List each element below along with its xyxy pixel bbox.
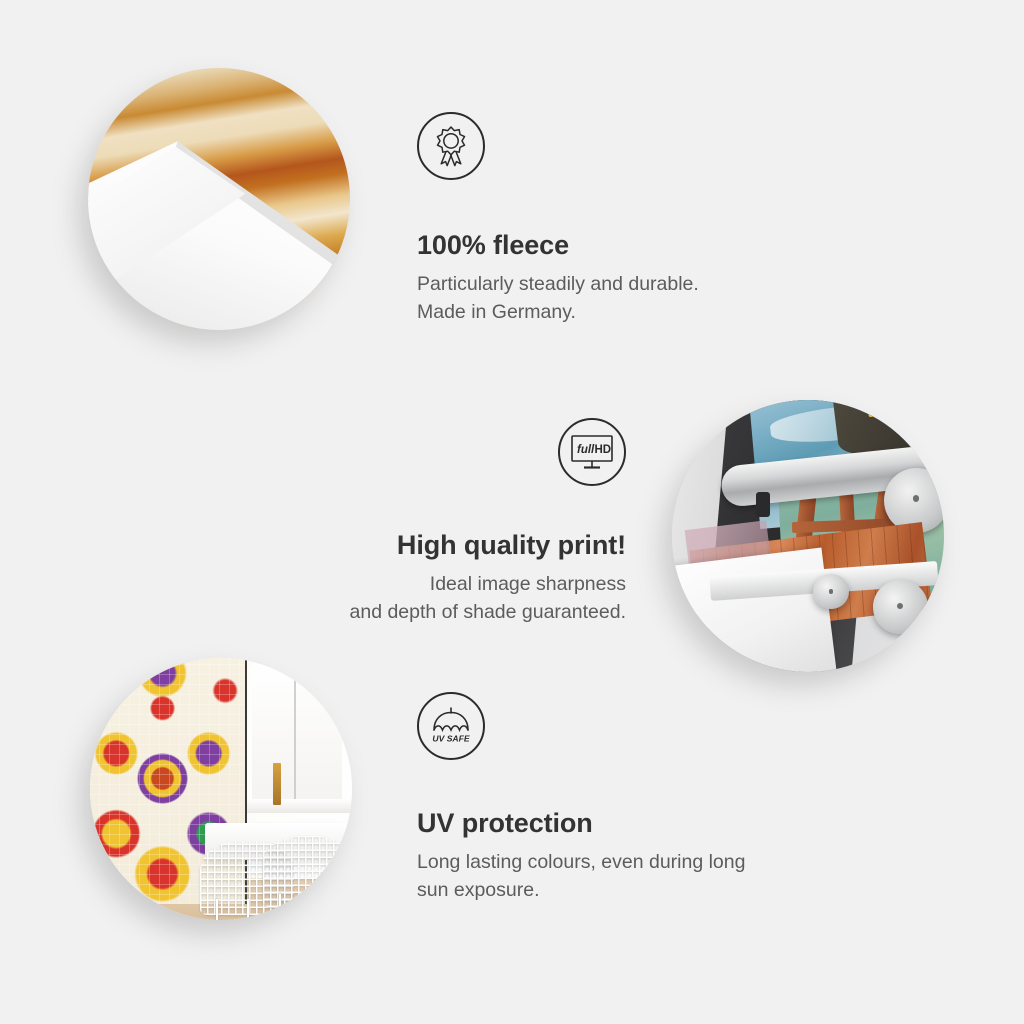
feature-block-fleece: 100% fleece Particularly steadily and du… <box>417 112 699 327</box>
uv-safe-label: UV SAFE <box>432 734 470 744</box>
infographic-stage: Amber wood-grain wallpaper sheet with a … <box>0 0 1024 1024</box>
feature-block-print: full HD High quality print! Ideal image … <box>262 418 626 627</box>
printer-knob <box>756 492 770 516</box>
full-hd-label-upright: HD <box>595 444 612 456</box>
feature-description-uv: Long lasting colours, even during long s… <box>417 848 745 905</box>
chair-leg <box>216 899 218 920</box>
window <box>252 663 341 804</box>
window-frame-bar <box>294 663 296 804</box>
chair-leg <box>247 899 249 920</box>
feature-line: Ideal image sharpness <box>262 570 626 598</box>
award-rosette-icon <box>417 112 485 180</box>
feature-line: and depth of shade guaranteed. <box>262 598 626 626</box>
chair-leg <box>279 894 281 918</box>
candlestick <box>273 763 281 805</box>
feature-line: Long lasting colours, even during long <box>417 848 745 876</box>
wallpaper-roll-photo: Amber wood-grain wallpaper sheet with a … <box>88 68 350 330</box>
window-sill <box>242 799 352 812</box>
feature-line: sun exposure. <box>417 876 745 904</box>
large-format-printer-photo: Large format printer with chrome roller … <box>672 400 944 672</box>
printer-output-sheet <box>672 547 837 672</box>
feature-description-fleece: Particularly steadily and durable. Made … <box>417 270 699 327</box>
interior-mandala-wallpaper-photo: Bright interior with colourful mandala w… <box>90 658 352 920</box>
feature-title-print: High quality print! <box>262 530 626 561</box>
printer-wheel <box>813 574 848 609</box>
wire-chair <box>263 836 352 907</box>
full-hd-monitor-icon: full HD <box>558 418 626 486</box>
uv-safe-umbrella-icon: UV SAFE <box>417 692 485 760</box>
feature-block-uv: UV SAFE UV protection Long lasting colou… <box>417 692 745 905</box>
full-hd-label-italic: full <box>577 444 595 456</box>
feature-line: Made in Germany. <box>417 298 699 326</box>
feature-description-print: Ideal image sharpness and depth of shade… <box>262 570 626 627</box>
printer-wheel <box>873 580 927 634</box>
feature-title-fleece: 100% fleece <box>417 230 699 261</box>
feature-title-uv: UV protection <box>417 808 745 839</box>
feature-line: Particularly steadily and durable. <box>417 270 699 298</box>
